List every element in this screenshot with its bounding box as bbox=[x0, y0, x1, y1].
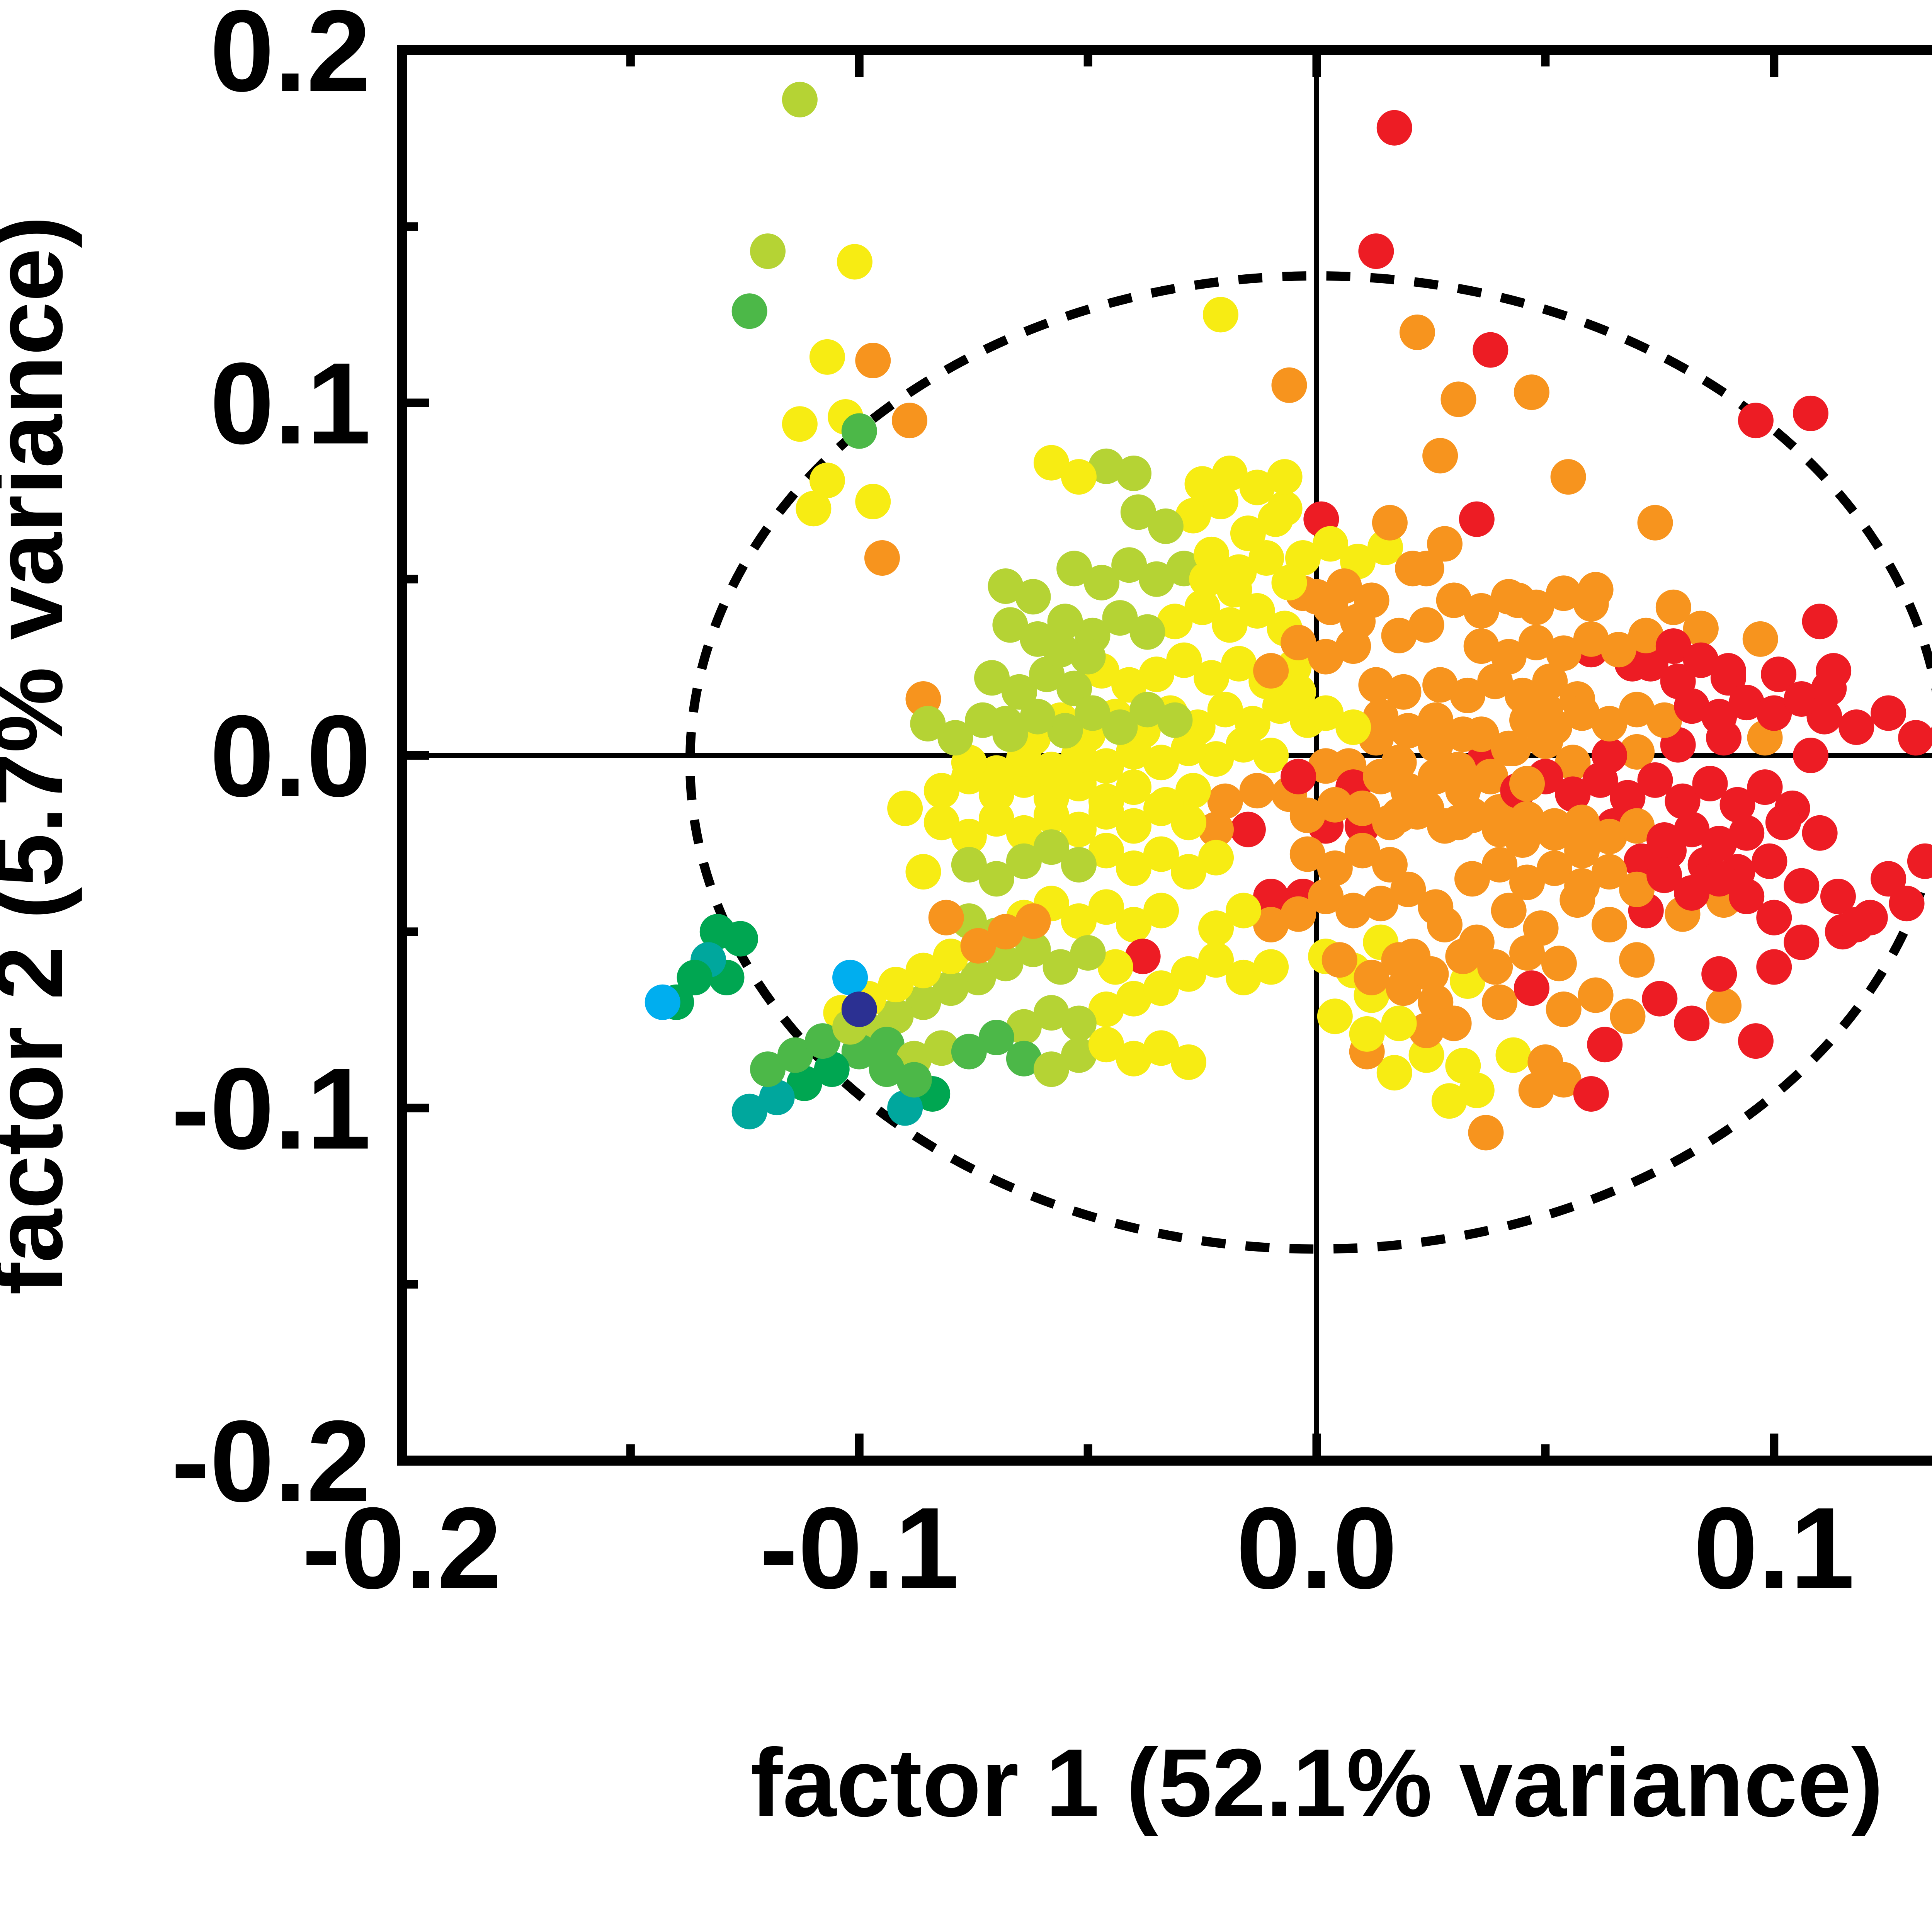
figure-root: -0.2-0.10.00.10.2 0.20.10.0-0.1-0.2 fact… bbox=[0, 0, 1932, 1915]
y-tick-label: 0.0 bbox=[210, 691, 371, 821]
x-tick-label: 0.1 bbox=[1694, 1483, 1855, 1613]
y-axis-label: factor 2 (5.7% variance) bbox=[0, 216, 82, 1295]
x-tick-label: -0.1 bbox=[759, 1483, 959, 1613]
y-tick-label: 0.1 bbox=[210, 338, 371, 468]
x-axis-label: factor 1 (52.1% variance) bbox=[750, 1729, 1883, 1837]
y-tick-label: -0.1 bbox=[171, 1044, 371, 1173]
y-tick-label: -0.2 bbox=[171, 1396, 371, 1526]
scatter-plot-figure: -0.2-0.10.00.10.2 0.20.10.0-0.1-0.2 fact… bbox=[0, 0, 1932, 1915]
y-tick-label: 0.2 bbox=[210, 0, 371, 116]
x-tick-label: 0.0 bbox=[1236, 1483, 1397, 1613]
